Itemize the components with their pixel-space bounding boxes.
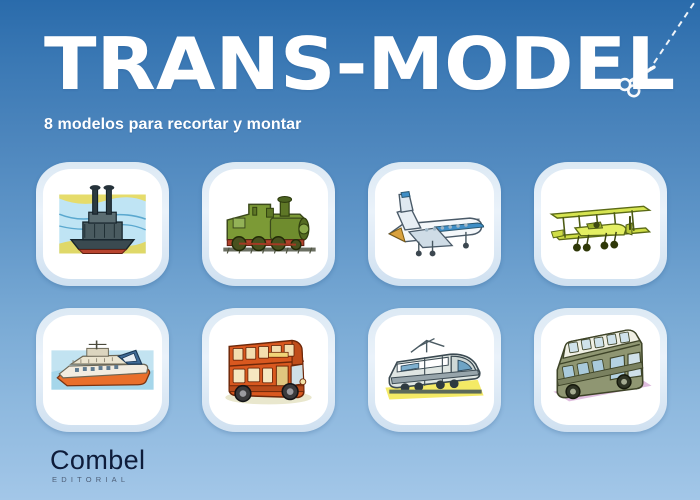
page-title: TRANS-MODEL <box>44 26 686 102</box>
model-tile-space-shuttle[interactable] <box>368 162 501 286</box>
biplane-icon <box>541 169 660 279</box>
double-decker-bus-icon <box>209 315 328 425</box>
tile-inner <box>541 315 660 425</box>
steamboat-icon <box>43 169 162 279</box>
book-cover: TRANS-MODEL 8 modelos para recortar y mo… <box>0 0 700 500</box>
model-tile-high-speed-train[interactable] <box>368 308 501 432</box>
model-tile-vintage-bus[interactable] <box>202 308 335 432</box>
model-tile-ferry-ship[interactable] <box>36 308 169 432</box>
model-tile-steam-locomotive[interactable] <box>202 162 335 286</box>
model-grid <box>36 162 668 432</box>
tile-inner <box>43 169 162 279</box>
tile-inner <box>375 169 494 279</box>
publisher-logo: Combel EDITORIAL <box>50 446 145 485</box>
tile-inner <box>541 169 660 279</box>
tile-inner <box>43 315 162 425</box>
publisher-tagline: EDITORIAL <box>50 474 145 485</box>
steam-locomotive-icon <box>209 169 328 279</box>
coach-bus-icon <box>541 315 660 425</box>
publisher-name: Combel <box>50 446 145 474</box>
title-block: TRANS-MODEL 8 modelos para recortar y mo… <box>44 26 644 134</box>
tile-inner <box>209 315 328 425</box>
title-text: TRANS-MODEL <box>44 22 675 106</box>
tile-inner <box>209 169 328 279</box>
high-speed-train-icon <box>375 315 494 425</box>
ferry-icon <box>43 315 162 425</box>
page-subtitle: 8 modelos para recortar y montar <box>44 116 644 134</box>
space-shuttle-icon <box>375 169 494 279</box>
model-tile-paddle-steamer[interactable] <box>36 162 169 286</box>
tile-inner <box>375 315 494 425</box>
model-tile-modern-coach-bus[interactable] <box>534 308 667 432</box>
model-tile-biplane[interactable] <box>534 162 667 286</box>
